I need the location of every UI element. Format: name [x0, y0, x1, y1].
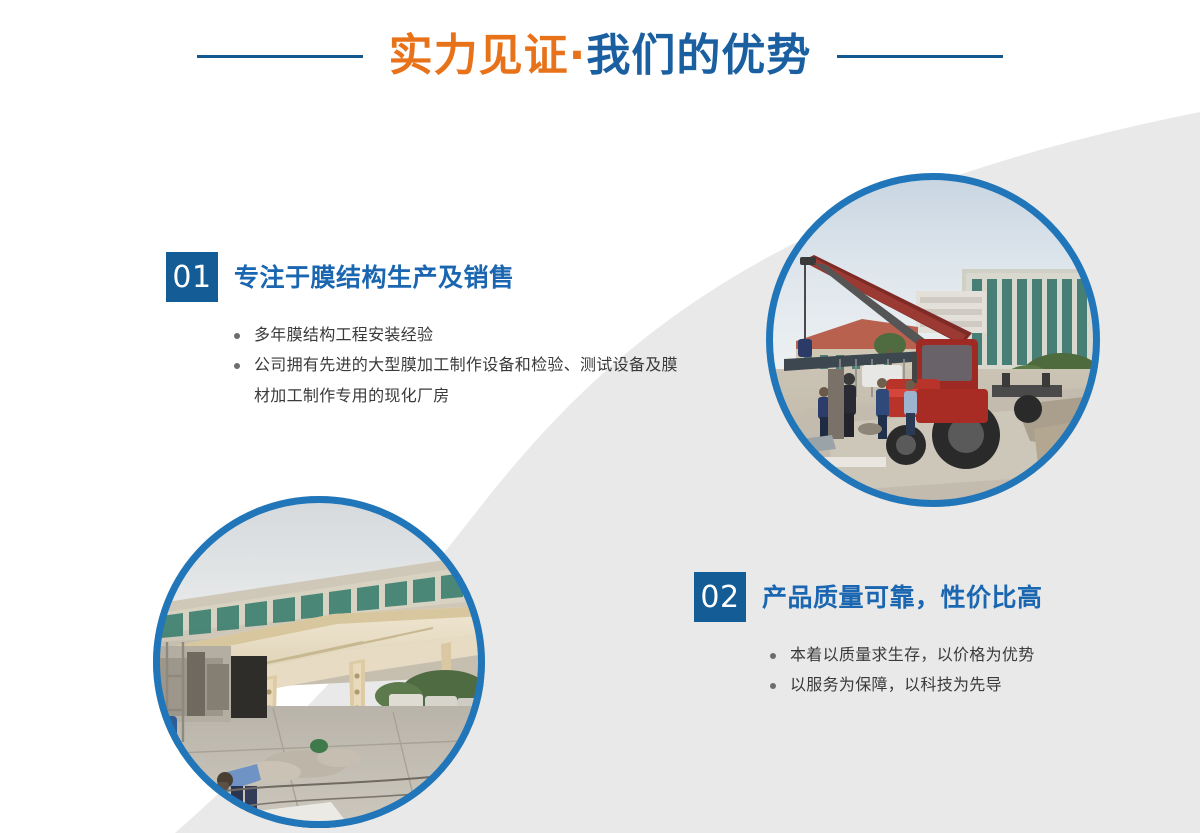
header-rule-left-icon — [197, 55, 363, 58]
list-item: 本着以质量求生存，以价格为优势 — [768, 640, 1043, 670]
page-title-orange: 实力见证 — [389, 30, 569, 81]
feature-block-02: 02 产品质量可靠，性价比高 本着以质量求生存，以价格为优势 以服务为保障，以科… — [694, 572, 1043, 701]
photo-crane-site-image — [766, 173, 1100, 507]
feature-block-01-head: 01 专注于膜结构生产及销售 — [166, 252, 684, 302]
list-item: 以服务为保障，以科技为先导 — [768, 670, 1043, 700]
header-inner: 实力见证·我们的优势 — [197, 34, 1004, 78]
feature-block-01-number-badge: 01 — [166, 252, 218, 302]
feature-block-02-number-badge: 02 — [694, 572, 746, 622]
list-item: 公司拥有先进的大型膜加工制作设备和检验、测试设备及膜材加工制作专用的现化厂房 — [232, 350, 684, 411]
feature-block-01-bullet-list: 多年膜结构工程安装经验 公司拥有先进的大型膜加工制作设备和检验、测试设备及膜材加… — [232, 320, 684, 411]
page-header: 实力见证·我们的优势 — [0, 0, 1200, 112]
photo-membrane-canopy-image — [153, 496, 485, 828]
page-title: 实力见证·我们的优势 — [389, 34, 812, 78]
feature-block-02-title: 产品质量可靠，性价比高 — [762, 585, 1043, 610]
page-title-blue: 我们的优势 — [586, 30, 811, 81]
page-title-separator: · — [569, 30, 587, 81]
photo-crane-site — [766, 173, 1100, 507]
promo-page: 实力见证·我们的优势 — [0, 0, 1200, 833]
feature-block-02-head: 02 产品质量可靠，性价比高 — [694, 572, 1043, 622]
feature-block-01-title: 专注于膜结构生产及销售 — [234, 265, 515, 290]
feature-block-01: 01 专注于膜结构生产及销售 多年膜结构工程安装经验 公司拥有先进的大型膜加工制… — [166, 252, 684, 411]
list-item: 多年膜结构工程安装经验 — [232, 320, 684, 350]
header-rule-right-icon — [837, 55, 1003, 58]
feature-block-02-bullet-list: 本着以质量求生存，以价格为优势 以服务为保障，以科技为先导 — [768, 640, 1043, 701]
photo-membrane-canopy — [153, 496, 485, 828]
